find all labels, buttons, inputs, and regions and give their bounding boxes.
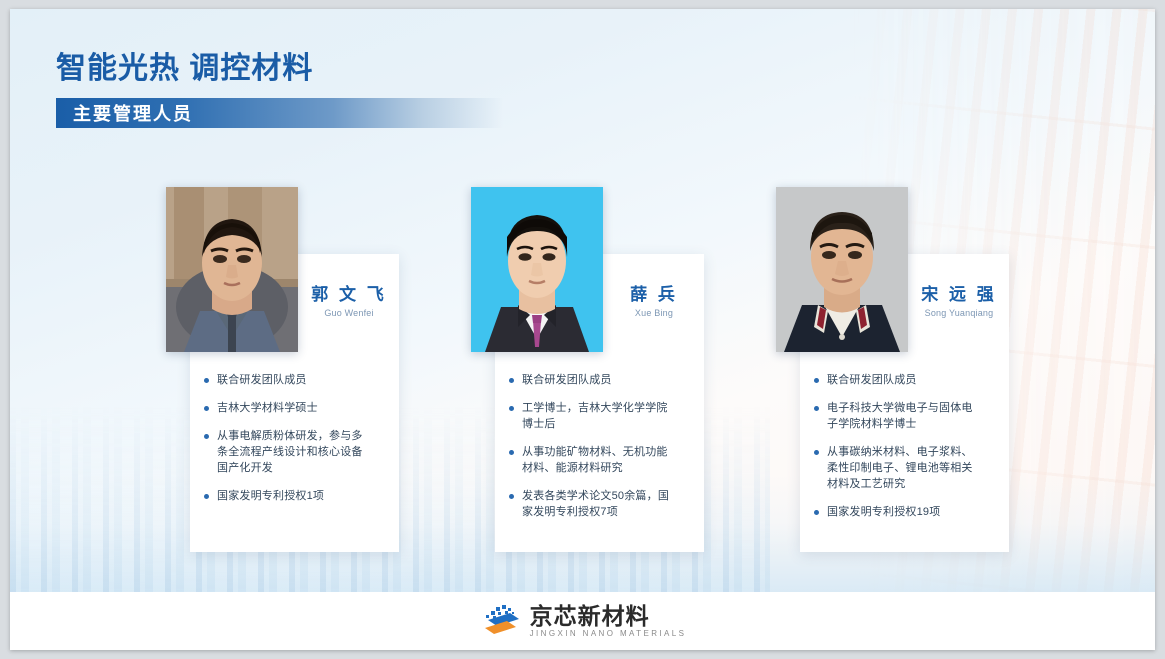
bullet-dot-icon [814,510,819,515]
list-item: 从事电解质粉体研发，参与多条全流程产线设计和核心设备国产化开发 [204,429,372,477]
list-item: 发表各类学术论文50余篇，国家发明专利授权7项 [509,489,677,521]
list-item: 工学博士，吉林大学化学学院博士后 [509,401,677,433]
bullet-dot-icon [204,434,209,439]
person-name-en: Guo Wenfei [299,308,399,318]
list-item: 从事碳纳米材料、电子浆料、柔性印制电子、锂电池等相关材料及工艺研究 [814,445,982,493]
jingxin-logo-mark-icon [479,603,521,639]
person-name-en: Xue Bing [604,308,704,318]
bullet-text: 电子科技大学微电子与固体电子学院材料学博士 [827,402,973,430]
slide: 智能光热 调控材料 主要管理人员 [10,9,1155,650]
bullet-dot-icon [509,378,514,383]
avatar-song-yuanqiang [776,187,908,352]
bullet-dot-icon [509,450,514,455]
bullet-dot-icon [204,406,209,411]
person-name-cn: 薛 兵 [604,285,704,305]
person-name-block: 宋 远 强 Song Yuanqiang [909,285,1009,318]
bullet-dot-icon [204,494,209,499]
bullet-dot-icon [814,450,819,455]
person-name-block: 薛 兵 Xue Bing [604,285,704,318]
bullet-dot-icon [814,406,819,411]
bullet-text: 从事功能矿物材料、无机功能材料、能源材料研究 [522,446,668,474]
list-item: 联合研发团队成员 [204,373,372,389]
bullet-dot-icon [509,406,514,411]
person-bullets: 联合研发团队成员 工学博士，吉林大学化学学院博士后 从事功能矿物材料、无机功能材… [509,373,677,521]
bullet-text: 从事碳纳米材料、电子浆料、柔性印制电子、锂电池等相关材料及工艺研究 [827,446,973,490]
bullet-text: 联合研发团队成员 [217,374,307,386]
slide-footer: 京芯新材料 JINGXIN NANO MATERIALS [10,592,1155,650]
company-logo: 京芯新材料 JINGXIN NANO MATERIALS [479,603,687,639]
person-bullets: 联合研发团队成员 吉林大学材料学硕士 从事电解质粉体研发，参与多条全流程产线设计… [204,373,372,505]
bullet-text: 联合研发团队成员 [827,374,917,386]
bullet-text: 工学博士，吉林大学化学学院博士后 [522,402,668,430]
list-item: 国家发明专利授权19项 [814,505,982,521]
list-item: 联合研发团队成员 [814,373,982,389]
bullet-text: 发表各类学术论文50余篇，国家发明专利授权7项 [522,490,669,518]
bullet-dot-icon [814,378,819,383]
person-bullets: 联合研发团队成员 电子科技大学微电子与固体电子学院材料学博士 从事碳纳米材料、电… [814,373,982,521]
people-list: 郭 文 飞 Guo Wenfei 联合研发团队成员 吉林大学材料学硕士 从事电解… [10,9,1155,650]
list-item: 吉林大学材料学硕士 [204,401,372,417]
list-item: 电子科技大学微电子与固体电子学院材料学博士 [814,401,982,433]
bullet-text: 联合研发团队成员 [522,374,612,386]
bullet-text: 吉林大学材料学硕士 [217,402,318,414]
person-name-en: Song Yuanqiang [909,308,1009,318]
logo-name-en: JINGXIN NANO MATERIALS [530,630,687,638]
avatar-guo-wenfei [166,187,298,352]
bullet-text: 国家发明专利授权19项 [827,506,940,518]
person-name-cn: 宋 远 强 [909,285,1009,305]
logo-text-block: 京芯新材料 JINGXIN NANO MATERIALS [530,605,687,638]
person-name-cn: 郭 文 飞 [299,285,399,305]
list-item: 从事功能矿物材料、无机功能材料、能源材料研究 [509,445,677,477]
bullet-dot-icon [509,494,514,499]
list-item: 联合研发团队成员 [509,373,677,389]
avatar-xue-bing [471,187,603,352]
bullet-dot-icon [204,378,209,383]
person-name-block: 郭 文 飞 Guo Wenfei [299,285,399,318]
logo-name-cn: 京芯新材料 [530,605,687,628]
list-item: 国家发明专利授权1项 [204,489,372,505]
bullet-text: 国家发明专利授权1项 [217,490,324,502]
bullet-text: 从事电解质粉体研发，参与多条全流程产线设计和核心设备国产化开发 [217,430,363,474]
